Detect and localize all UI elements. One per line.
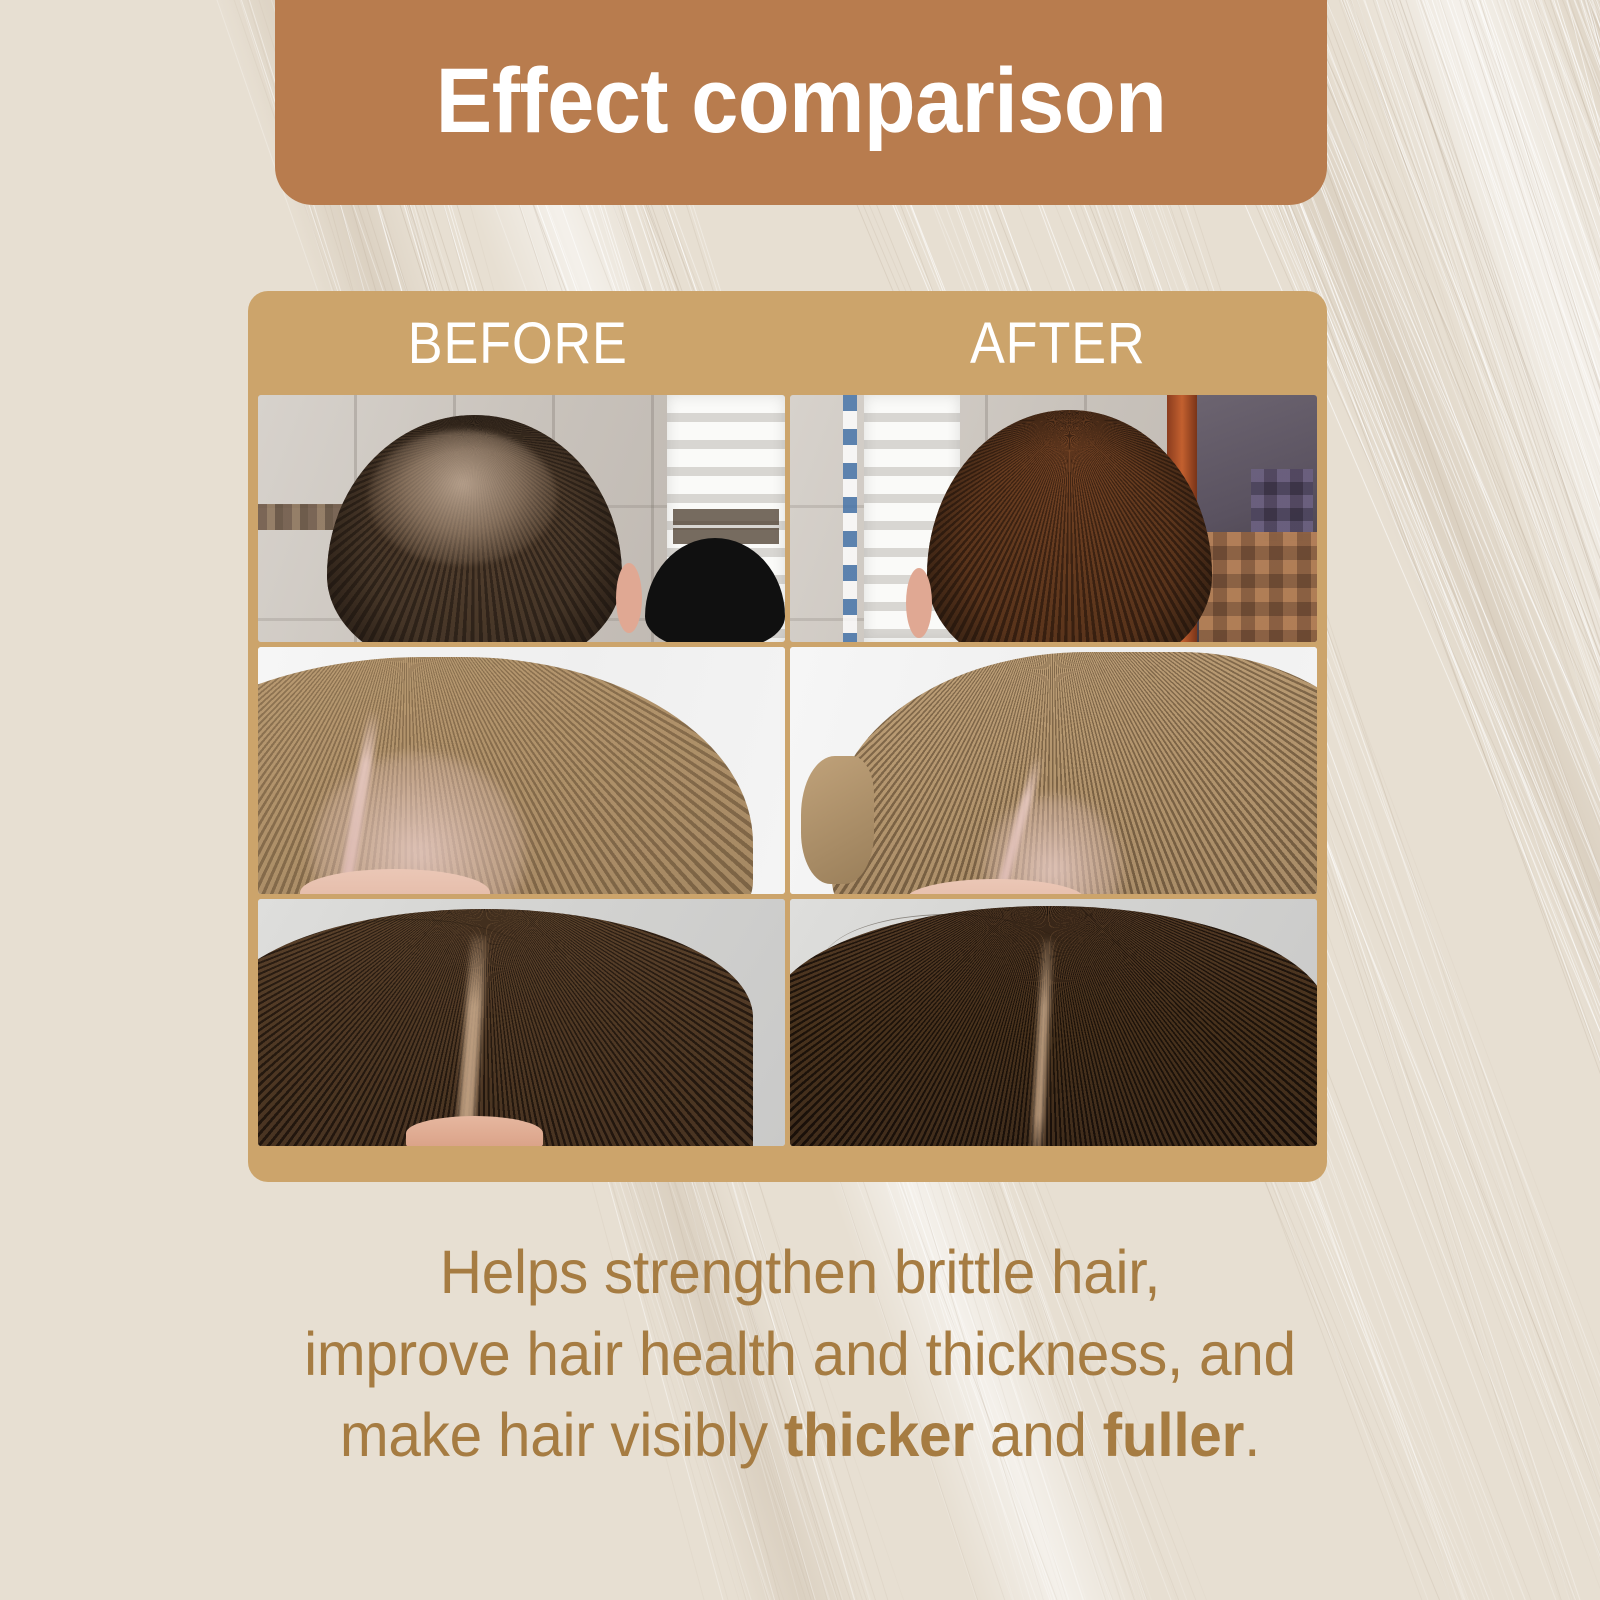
page-title: Effect comparison: [436, 49, 1167, 154]
head-crown-thinning: [327, 415, 622, 642]
column-label-row: BEFORE AFTER: [248, 291, 1327, 395]
head-crown-restored: [927, 410, 1212, 642]
photo-before-dark-centre-part: [258, 899, 785, 1146]
column-label-before: BEFORE: [275, 291, 761, 395]
ear: [906, 568, 932, 638]
pixelated-face-mask: [1251, 469, 1313, 541]
caption-line3-middle: and: [974, 1401, 1103, 1469]
before-after-photo-grid: [258, 395, 1317, 1146]
caption-line-1: Helps strengthen brittle hair,: [32, 1232, 1568, 1314]
photo-before-male-crown: [258, 395, 785, 642]
pixelated-clothing-mask: [1199, 532, 1317, 642]
forehead: [406, 1116, 543, 1146]
photo-after-male-crown: [790, 395, 1317, 642]
flyaway-hair: [822, 914, 1075, 1013]
hair-tuft: [801, 756, 875, 884]
product-caption: Helps strengthen brittle hair, improve h…: [0, 1232, 1600, 1477]
caption-emphasis-thicker: thicker: [784, 1401, 974, 1469]
head-light-brown-fuller: [832, 652, 1317, 894]
photo-after-light-parting: [790, 647, 1317, 894]
photo-before-light-parting: [258, 647, 785, 894]
header-banner: Effect comparison: [275, 0, 1327, 205]
head-light-brown-thinning: [258, 657, 753, 894]
caption-line-3: make hair visibly thicker and fuller.: [32, 1395, 1568, 1477]
caption-line3-suffix: .: [1244, 1401, 1260, 1469]
caption-emphasis-fuller: fuller: [1103, 1401, 1244, 1469]
photo-after-dark-centre-part: [790, 899, 1317, 1146]
comparison-card: BEFORE AFTER: [248, 291, 1327, 1182]
caption-line-2: improve hair health and thickness, and: [32, 1314, 1568, 1396]
caption-line3-prefix: make hair visibly: [340, 1401, 784, 1469]
column-label-after: AFTER: [814, 291, 1300, 395]
flyaway-hair: [279, 919, 543, 1028]
tile-border-stripe: [843, 395, 857, 642]
